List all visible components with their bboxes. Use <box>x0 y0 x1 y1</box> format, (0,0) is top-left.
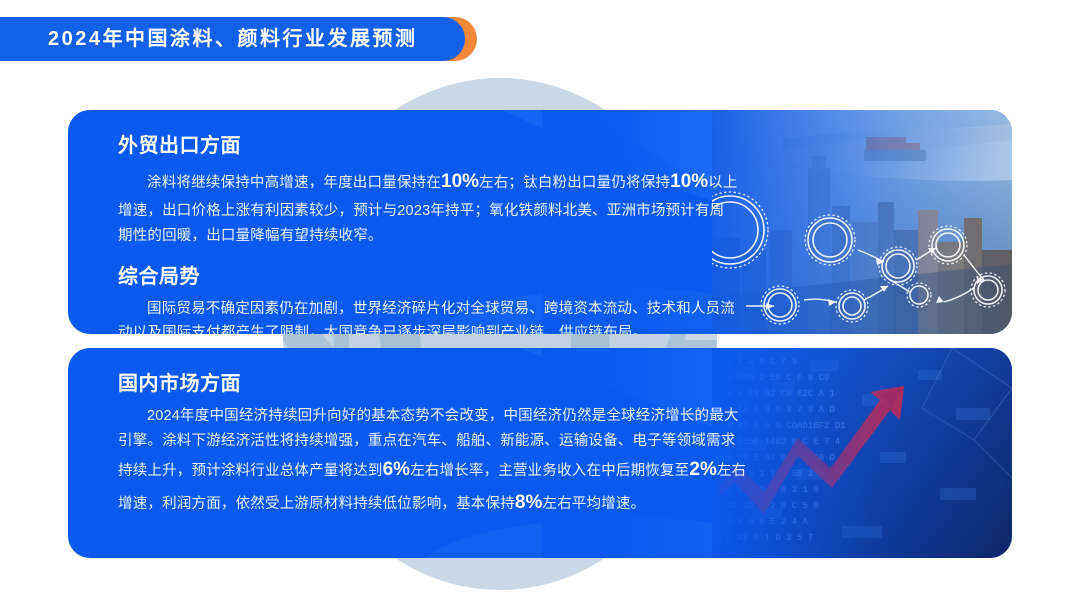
paragraph-run: 左右；钛白粉出口量仍将保持 <box>479 175 670 191</box>
paragraph-run: 左右增长率，主营业务收入在中后期恢复至 <box>410 463 689 479</box>
header-bar: 2024年中国涂料、颜料行业发展预测 <box>0 17 465 61</box>
card-foreign-trade-body: 外贸出口方面 涂料将继续保持中高增速，年度出口量保持在10%左右；钛白粉出口量仍… <box>68 110 1012 334</box>
highlight-value: 6% <box>383 459 410 480</box>
paragraph-run: 国际贸易不确定因素仍在加剧，世界经济碎片化对全球贸易、跨境资本流动、技术和人员流… <box>118 301 735 334</box>
section-title-domestic-market: 国内市场方面 <box>118 372 1012 396</box>
section-paragraph-overall-situation: 国际贸易不确定因素仍在加剧，世界经济碎片化对全球贸易、跨境资本流动、技术和人员流… <box>118 297 738 334</box>
highlight-value: 10% <box>670 171 708 192</box>
section-paragraph-domestic-market: 2024年度中国经济持续回升向好的基本态势不会改变，中国经济仍然是全球经济增长的… <box>118 404 748 519</box>
paragraph-run: 左右平均增速。 <box>542 496 645 512</box>
slide-root: NCIA 2024年中国涂料、颜料行业发展预测 <box>0 0 1080 607</box>
section-paragraph-foreign-trade: 涂料将继续保持中高增速，年度出口量保持在10%左右；钛白粉出口量仍将保持10%以… <box>118 166 738 249</box>
highlight-value: 10% <box>441 171 479 192</box>
card-foreign-trade: 外贸出口方面 涂料将继续保持中高增速，年度出口量保持在10%左右；钛白粉出口量仍… <box>68 110 1012 334</box>
section-title-foreign-trade: 外贸出口方面 <box>118 134 1012 158</box>
section-title-overall-situation: 综合局势 <box>118 265 1012 289</box>
card-domestic-market: F 0 A 2 B C 7 9 C 3 D04 2 E9 C F 8 C9 9 … <box>68 348 1012 558</box>
page-title: 2024年中国涂料、颜料行业发展预测 <box>48 29 418 49</box>
card-domestic-market-body: 国内市场方面 2024年度中国经济持续回升向好的基本态势不会改变，中国经济仍然是… <box>68 348 1012 519</box>
highlight-value: 8% <box>515 492 542 513</box>
paragraph-run: 涂料将继续保持中高增速，年度出口量保持在 <box>147 175 441 191</box>
highlight-value: 2% <box>689 459 716 480</box>
